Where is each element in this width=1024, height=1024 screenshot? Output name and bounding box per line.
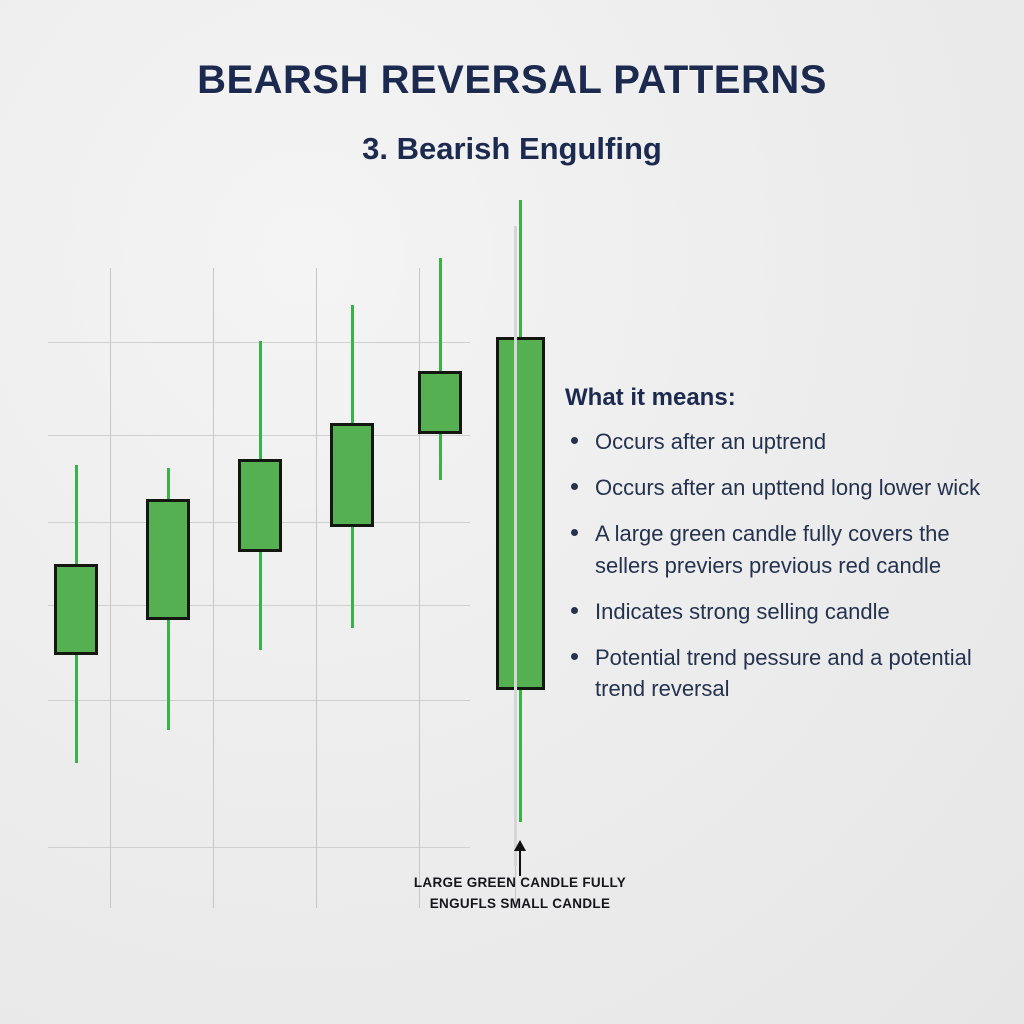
gridline-vertical [110, 268, 111, 908]
candle-wick [167, 468, 170, 730]
explanation-panel: What it means: Occurs after an uptrendOc… [565, 384, 985, 720]
candle-body [330, 423, 374, 527]
bullet-item: Indicates strong selling candle [565, 596, 985, 627]
bullet-text: Potential trend pessure and a potential … [595, 645, 972, 701]
candle [146, 468, 190, 730]
gridline-horizontal [48, 342, 470, 343]
gridline-horizontal [48, 605, 470, 606]
bullet-list: Occurs after an uptrendOccurs after an u… [565, 426, 985, 705]
bullet-dot-icon [571, 483, 578, 490]
candle-body [496, 337, 545, 690]
candle [54, 465, 98, 763]
candle-body [146, 499, 190, 620]
arrow-head-icon [514, 840, 526, 851]
bullet-text: Indicates strong selling candle [595, 599, 890, 624]
callout-arrow [510, 840, 530, 876]
bullet-dot-icon [571, 529, 578, 536]
page-title: BEARSH REVERSAL PATTERNS [0, 58, 1024, 103]
candle-body [418, 371, 462, 434]
candle-wick [75, 465, 78, 763]
bullet-item: Potential trend pessure and a potential … [565, 642, 985, 704]
callout-label: LARGE GREEN CANDLE FULLY ENGUFLS SMALL C… [370, 873, 670, 915]
bullet-dot-icon [571, 437, 578, 444]
arrow-shaft-icon [519, 848, 521, 876]
bullet-dot-icon [571, 653, 578, 660]
bullet-item: Occurs after an uptrend [565, 426, 985, 457]
guide-line [514, 226, 517, 866]
gridline-horizontal [48, 435, 470, 436]
bullet-item: Occurs after an upttend long lower wick [565, 472, 985, 503]
gridline-horizontal [48, 700, 470, 701]
candle [330, 305, 374, 628]
gridline-vertical [316, 268, 317, 908]
candle-body [238, 459, 282, 552]
candle-wick [351, 305, 354, 628]
pattern-subtitle: 3. Bearish Engulfing [0, 131, 1024, 167]
candle-engulfing [496, 200, 545, 822]
bullet-text: Occurs after an uptrend [595, 429, 826, 454]
bullet-dot-icon [571, 607, 578, 614]
gridline-vertical [515, 268, 516, 908]
candle [418, 258, 462, 480]
gridline-vertical [213, 268, 214, 908]
callout-label-line2: ENGUFLS SMALL CANDLE [370, 894, 670, 915]
candle-wick [439, 258, 442, 480]
candle-wick [519, 200, 522, 822]
bullet-text: Occurs after an upttend long lower wick [595, 475, 980, 500]
callout-label-line1: LARGE GREEN CANDLE FULLY [370, 873, 670, 894]
candle-body [54, 564, 98, 655]
gridline-horizontal [48, 522, 470, 523]
poster-canvas: BEARSH REVERSAL PATTERNS 3. Bearish Engu… [0, 0, 1024, 1024]
candle [238, 341, 282, 650]
gridline-vertical [419, 268, 420, 908]
bullet-text: A large green candle fully covers the se… [595, 521, 950, 577]
gridline-horizontal [48, 847, 470, 848]
candle-wick [259, 341, 262, 650]
panel-heading: What it means: [565, 384, 985, 412]
bullet-item: A large green candle fully covers the se… [565, 518, 985, 580]
